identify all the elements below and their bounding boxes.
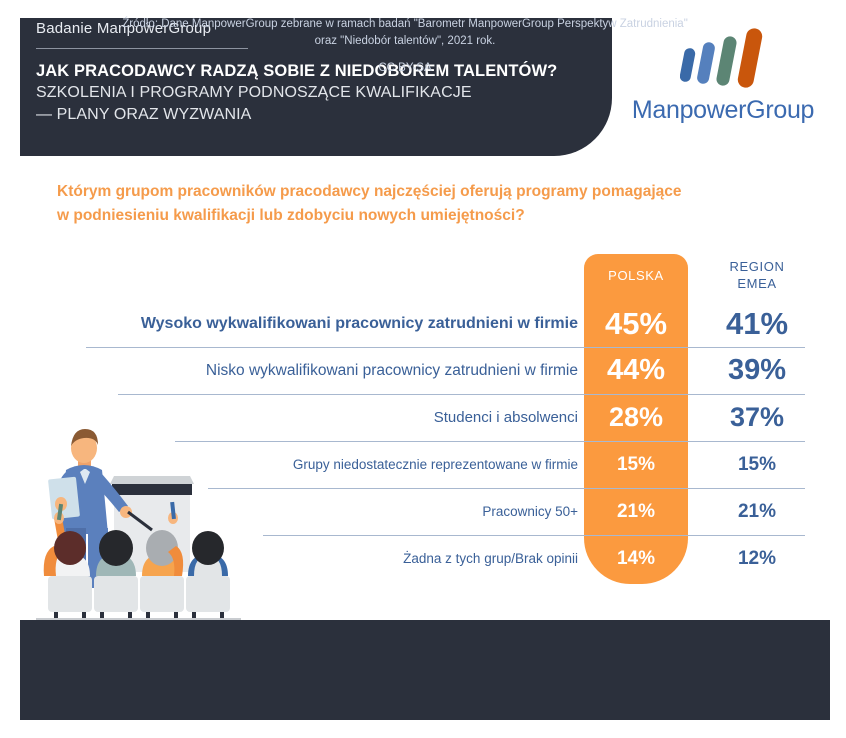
question-text: Którym grupom pracowników pracodawcy naj… bbox=[57, 180, 817, 228]
row-value-emea: 15% bbox=[694, 441, 820, 488]
row-value-polska: 21% bbox=[584, 488, 688, 535]
footer-source-line-1: Źródło: Dane ManpowerGroup zebrane w ram… bbox=[40, 16, 770, 33]
column-header-region-emea: REGION EMEA bbox=[694, 258, 820, 292]
row-value-emea: 39% bbox=[694, 347, 820, 394]
footer-band bbox=[20, 620, 830, 720]
training-classroom-illustration bbox=[36, 408, 241, 620]
row-label: Grupy niedostatecznie reprezentowane w f… bbox=[293, 441, 578, 488]
row-value-emea: 41% bbox=[694, 300, 820, 347]
table-row: Nisko wykwalifikowani pracownicy zatrudn… bbox=[0, 347, 846, 394]
row-label: Pracownicy 50+ bbox=[482, 488, 578, 535]
table-row: Wysoko wykwalifikowani pracownicy zatrud… bbox=[0, 300, 846, 347]
question-line-2: w podniesieniu kwalifikacji lub zdobyciu… bbox=[57, 204, 817, 228]
footer-source-line-2: oraz "Niedobór talentów", 2021 rok. bbox=[40, 33, 770, 50]
column-header-emea: EMEA bbox=[694, 275, 820, 292]
row-label: Wysoko wykwalifikowani pracownicy zatrud… bbox=[141, 300, 578, 347]
column-header-polska: POLSKA bbox=[584, 268, 688, 283]
row-value-polska: 15% bbox=[584, 441, 688, 488]
infographic-page: Badanie ManpowerGroup JAK PRACODAWCY RAD… bbox=[0, 0, 846, 738]
row-value-emea: 37% bbox=[694, 394, 820, 441]
footer-license: CC BY-SA bbox=[40, 62, 770, 74]
title-line-2: SZKOLENIA I PROGRAMY PODNOSZĄCE KWALIFIK… bbox=[36, 82, 576, 104]
row-label: Żadna z tych grup/Brak opinii bbox=[403, 535, 578, 582]
row-value-polska: 28% bbox=[584, 394, 688, 441]
title-line-3: — PLANY ORAZ WYZWANIA bbox=[36, 104, 576, 126]
question-line-1: Którym grupom pracowników pracodawcy naj… bbox=[57, 180, 817, 204]
row-value-emea: 12% bbox=[694, 535, 820, 582]
row-divider bbox=[86, 347, 805, 348]
row-value-polska: 45% bbox=[584, 300, 688, 347]
row-value-polska: 14% bbox=[584, 535, 688, 582]
row-value-emea: 21% bbox=[694, 488, 820, 535]
row-label: Nisko wykwalifikowani pracownicy zatrudn… bbox=[206, 347, 578, 394]
column-header-region: REGION bbox=[694, 258, 820, 275]
row-value-polska: 44% bbox=[584, 347, 688, 394]
manpowergroup-wordmark: ManpowerGroup bbox=[618, 96, 828, 125]
footer-source: Źródło: Dane ManpowerGroup zebrane w ram… bbox=[40, 16, 770, 50]
row-label: Studenci i absolwenci bbox=[434, 394, 578, 441]
